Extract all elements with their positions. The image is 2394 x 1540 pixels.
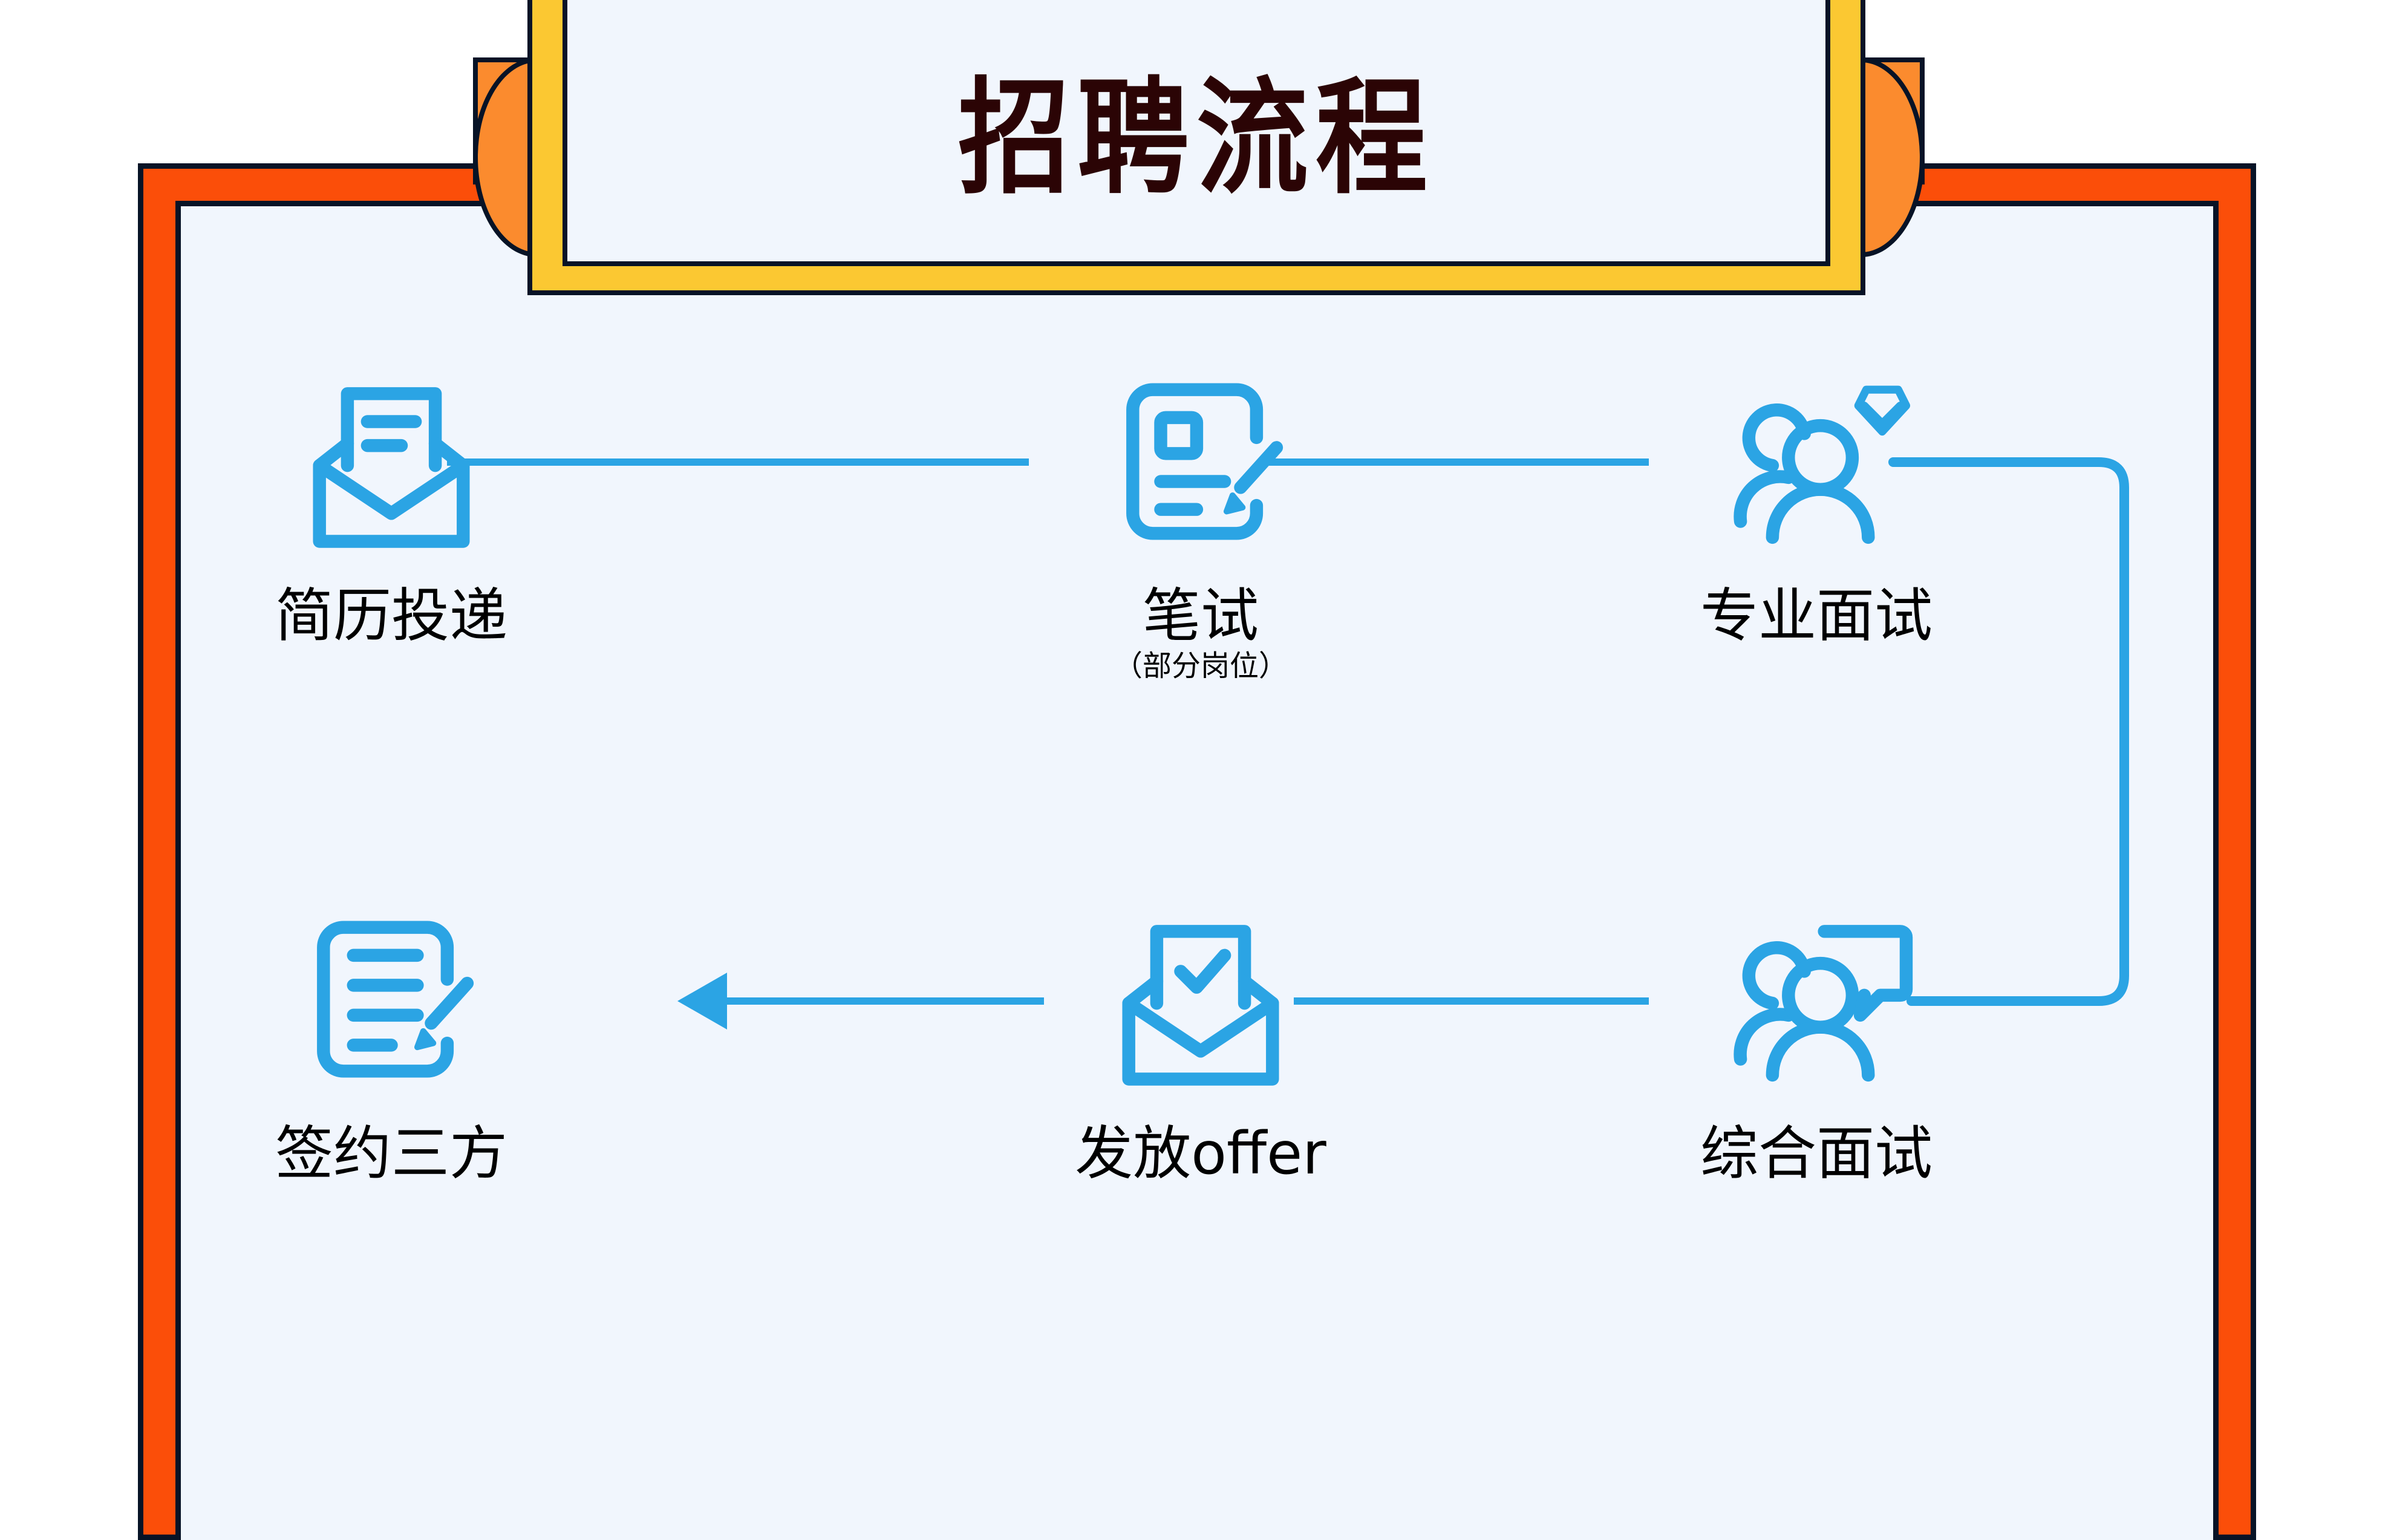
page-title: 招聘流程: [958, 60, 1435, 201]
title-plate: 招聘流程: [563, 0, 1830, 266]
inner-content-panel: [175, 201, 2219, 1540]
